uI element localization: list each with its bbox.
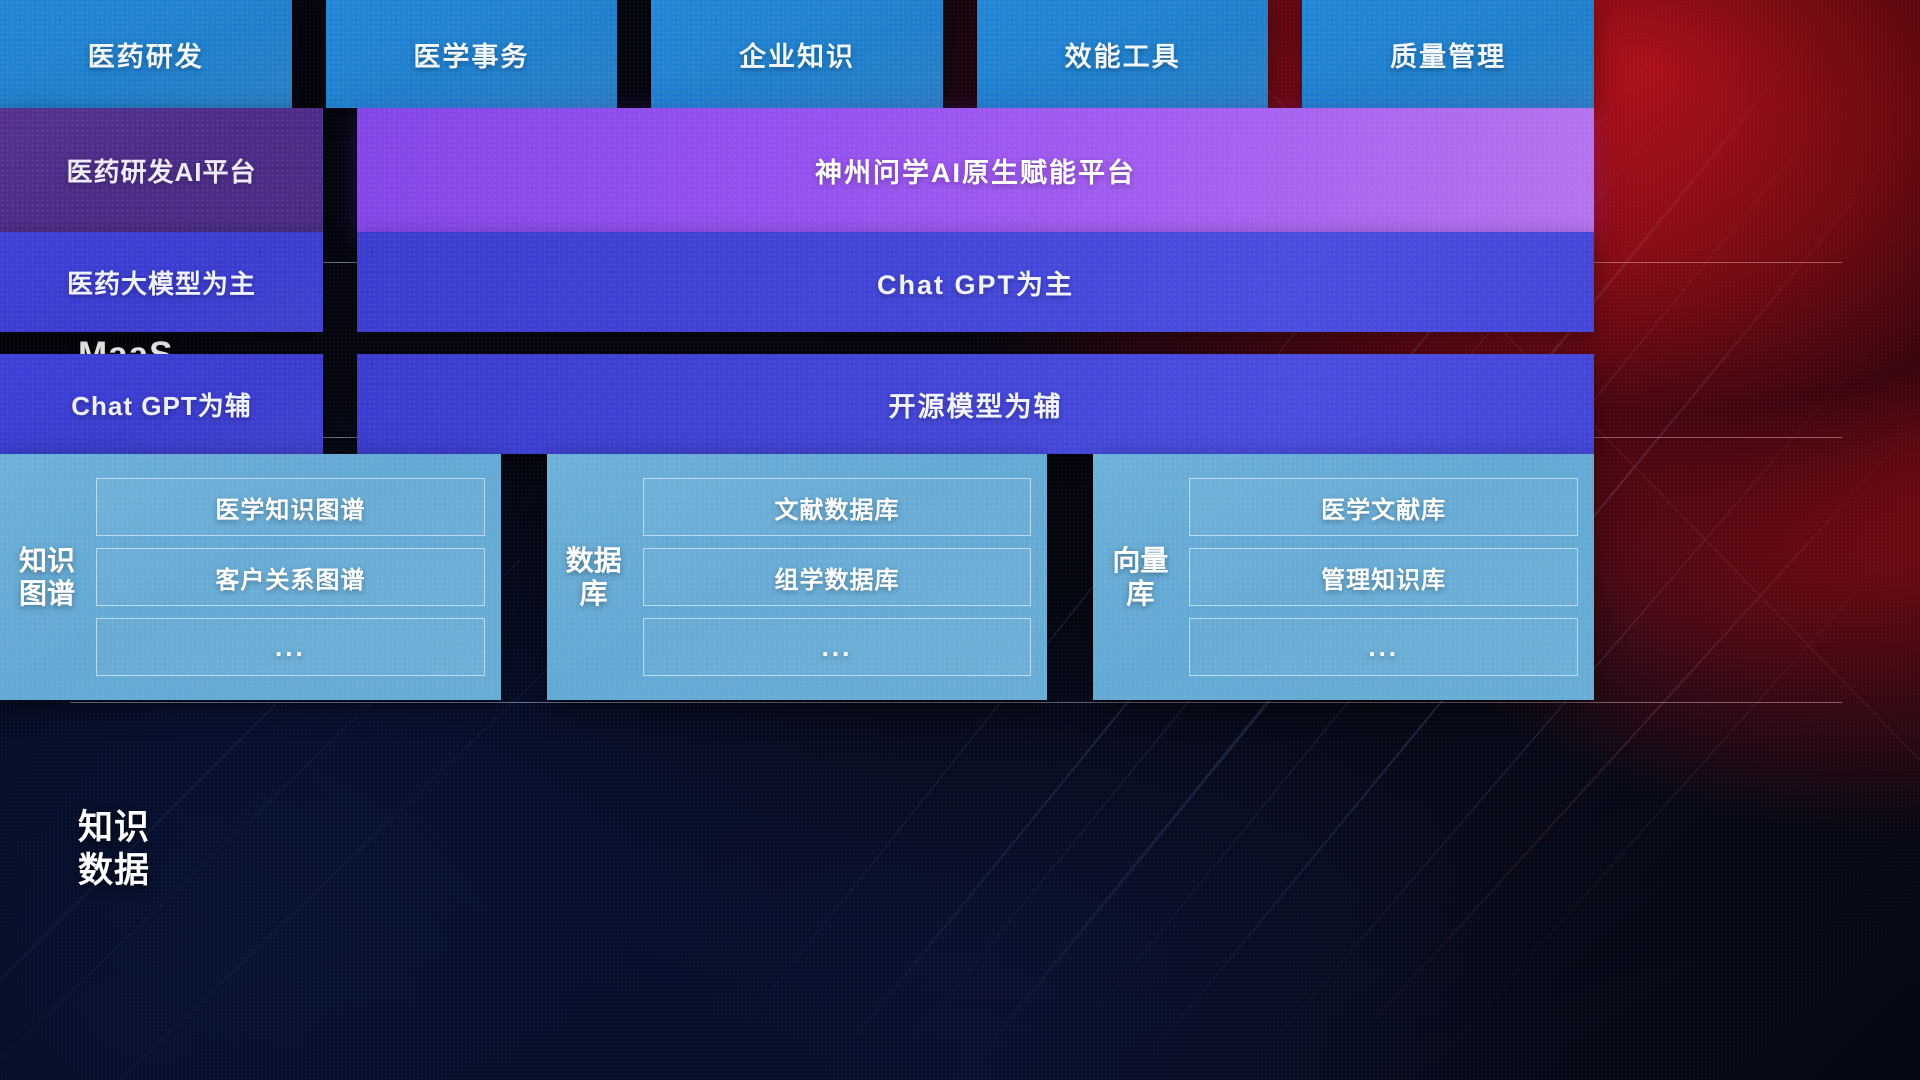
knowledge-item[interactable]: 组学数据库	[643, 548, 1032, 606]
knowledge-item-list: 文献数据库 组学数据库 ...	[627, 468, 1032, 686]
app-box[interactable]: 企业知识	[651, 0, 943, 108]
knowledge-item-list: 医学文献库 管理知识库 ...	[1173, 468, 1578, 686]
app-box-label: 效能工具	[1065, 35, 1181, 74]
knowledge-item[interactable]: 医学文献库	[1189, 478, 1578, 536]
knowledge-item[interactable]: 客户关系图谱	[96, 548, 485, 606]
maas-platform-label: 医药研发AI平台	[66, 152, 256, 189]
knowledge-group-title: 向量库	[1107, 468, 1173, 686]
knowledge-group: 知识图谱 医学知识图谱 客户关系图谱 ...	[0, 454, 501, 700]
tier-application-boxes: 医药研发 医学事务 企业知识 效能工具 质量管理	[0, 0, 1594, 108]
algorithm-primary-left-box[interactable]: 医药大模型为主	[0, 232, 323, 332]
algorithm-row: 医药大模型为主 Chat GPT为主	[0, 232, 1594, 332]
algorithm-secondary-right-label: 开源模型为辅	[889, 385, 1063, 424]
app-box-label: 医药研发	[88, 35, 204, 74]
algorithm-secondary-left-label: Chat GPT为辅	[71, 386, 251, 423]
algorithm-secondary-left-box[interactable]: Chat GPT为辅	[0, 354, 323, 454]
divider-algorithm-knowledge	[70, 702, 1842, 703]
knowledge-group: 数据库 文献数据库 组学数据库 ...	[547, 454, 1048, 700]
algorithm-primary-right-box[interactable]: Chat GPT为主	[357, 232, 1594, 332]
maas-platform-box[interactable]: 医药研发AI平台	[0, 108, 323, 232]
architecture-diagram: 应用 场景 医药研发 医学事务 企业知识 效能工具 质量管理 MaaS 医药研发…	[0, 0, 1920, 1080]
algorithm-primary-right-label: Chat GPT为主	[877, 263, 1074, 302]
maas-native-platform-label: 神州问学AI原生赋能平台	[815, 151, 1136, 190]
app-box[interactable]: 效能工具	[977, 0, 1269, 108]
app-box-label: 企业知识	[739, 35, 855, 74]
app-box[interactable]: 医学事务	[326, 0, 618, 108]
knowledge-group: 向量库 医学文献库 管理知识库 ...	[1093, 454, 1594, 700]
app-box-label: 质量管理	[1390, 35, 1506, 74]
knowledge-group-title: 数据库	[561, 468, 627, 686]
knowledge-item-more[interactable]: ...	[1189, 618, 1578, 676]
app-box[interactable]: 医药研发	[0, 0, 292, 108]
knowledge-item-more[interactable]: ...	[96, 618, 485, 676]
knowledge-item[interactable]: 管理知识库	[1189, 548, 1578, 606]
knowledge-item-more[interactable]: ...	[643, 618, 1032, 676]
knowledge-group-title: 知识图谱	[14, 468, 80, 686]
tier-knowledge-groups: 知识图谱 医学知识图谱 客户关系图谱 ... 数据库 文献数据库 组学数据库 .…	[0, 454, 1594, 700]
algorithm-secondary-right-box[interactable]: 开源模型为辅	[357, 354, 1594, 454]
tier-label-knowledge: 知识 数据	[78, 806, 228, 893]
app-box-label: 医学事务	[413, 35, 529, 74]
tier-maas-boxes: 医药研发AI平台 神州问学AI原生赋能平台	[0, 108, 1594, 232]
knowledge-item[interactable]: 医学知识图谱	[96, 478, 485, 536]
app-box[interactable]: 质量管理	[1302, 0, 1594, 108]
tier-algorithm-boxes: 医药大模型为主 Chat GPT为主 Chat GPT为辅 开源模型为辅	[0, 232, 1594, 454]
maas-native-platform-box[interactable]: 神州问学AI原生赋能平台	[357, 108, 1594, 232]
algorithm-primary-left-label: 医药大模型为主	[67, 264, 256, 301]
knowledge-item[interactable]: 文献数据库	[643, 478, 1032, 536]
knowledge-item-list: 医学知识图谱 客户关系图谱 ...	[80, 468, 485, 686]
algorithm-row: Chat GPT为辅 开源模型为辅	[0, 354, 1594, 454]
